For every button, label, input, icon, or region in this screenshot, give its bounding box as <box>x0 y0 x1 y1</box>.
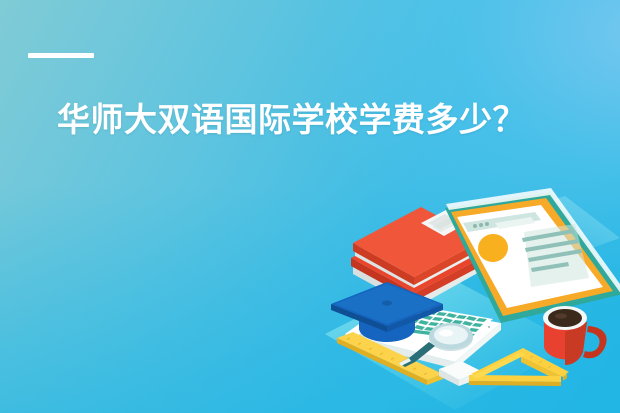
illustration-education-desk <box>325 186 620 413</box>
page-title: 华师大双语国际学校学费多少？ <box>57 101 577 139</box>
banner-image: 华师大双语国际学校学费多少？ <box>0 0 620 413</box>
accent-divider-rule <box>28 53 94 58</box>
coffee-mug <box>543 306 607 365</box>
